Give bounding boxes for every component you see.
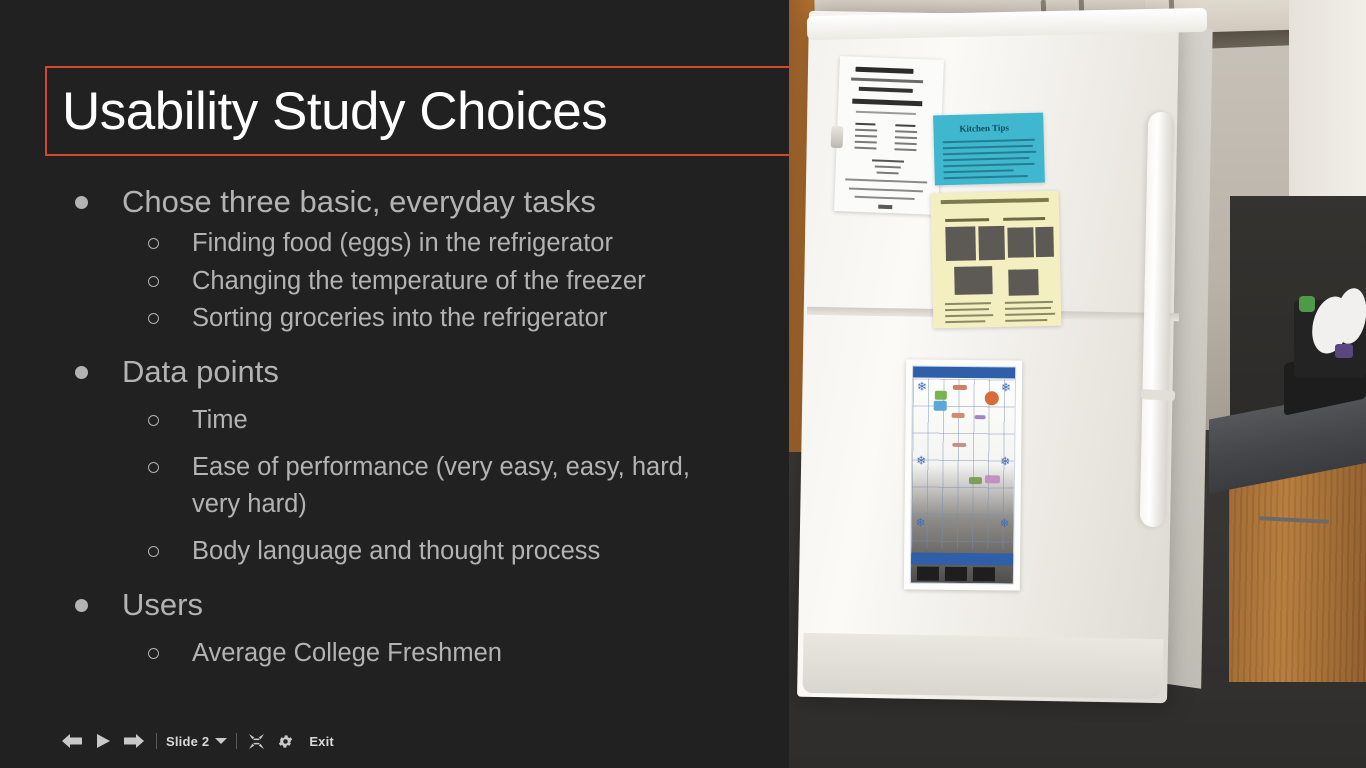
snowflake-icon: ❄ <box>1001 381 1011 393</box>
refrigerator-base <box>803 633 1164 699</box>
hollow-bullet-icon <box>148 415 159 426</box>
list-item: Chose three basic, everyday tasks <box>60 182 780 223</box>
refrigerator-handle-bracket <box>1141 389 1175 401</box>
bullet-level1-label: Chose three basic, everyday tasks <box>122 182 596 223</box>
toolbar-divider <box>236 733 237 749</box>
calendar-note <box>952 413 965 418</box>
calendar-inner: ❄ ❄ ❄ ❄ ❄ ❄ <box>910 365 1016 584</box>
list-item: Time <box>60 402 780 440</box>
calendar-note <box>985 475 1000 483</box>
filled-bullet-icon <box>75 599 88 612</box>
calendar-sticker <box>934 401 947 411</box>
snowflake-icon: ❄ <box>916 455 926 467</box>
hollow-bullet-icon <box>148 546 159 557</box>
calendar-header-bar <box>913 366 1015 378</box>
apartment-cleaning-flyer <box>931 191 1062 329</box>
list-item: Finding food (eggs) in the refrigerator <box>60 225 780 263</box>
next-slide-button[interactable] <box>117 728 151 754</box>
snowflake-icon: ❄ <box>999 517 1009 529</box>
bullet-level2-label: Time <box>192 402 248 440</box>
list-item: Body language and thought process <box>60 533 780 571</box>
slide-title-box: Usability Study Choices <box>45 66 789 156</box>
exit-button-label: Exit <box>309 734 334 749</box>
chevron-down-icon <box>215 738 227 744</box>
bullet-level2-label: Ease of performance (very easy, easy, ha… <box>192 449 722 524</box>
play-presentation-button[interactable] <box>89 728 117 754</box>
slide-selector[interactable]: Slide 2 <box>162 734 231 749</box>
refrigerator-photo: Kitchen Tips <box>789 0 1366 768</box>
list-item: Sorting groceries into the refrigerator <box>60 300 780 338</box>
slide-body-list: Chose three basic, everyday tasks Findin… <box>60 182 780 673</box>
exit-button[interactable]: Exit <box>300 728 340 754</box>
bullet-group: Users Average College Freshmen <box>60 585 780 673</box>
bullet-level2-label: Body language and thought process <box>192 533 600 571</box>
toolbar-divider <box>156 733 157 749</box>
calendar-note <box>975 415 986 419</box>
hollow-bullet-icon <box>148 238 159 249</box>
bullet-level2-label: Changing the temperature of the freezer <box>192 263 646 301</box>
slide-canvas: Usability Study Choices Chose three basi… <box>0 0 789 768</box>
list-item: Data points <box>60 352 780 393</box>
filled-bullet-icon <box>75 366 88 379</box>
presentation-viewer: Usability Study Choices Chose three basi… <box>0 0 1366 768</box>
previous-slide-button[interactable] <box>55 728 89 754</box>
collapse-arrows-icon <box>248 733 265 750</box>
exit-fullscreen-button[interactable] <box>242 728 271 754</box>
calendar-sticker <box>985 391 999 405</box>
green-cup <box>1299 296 1315 312</box>
kitchen-tips-card: Kitchen Tips <box>933 113 1045 186</box>
hollow-bullet-icon <box>148 313 159 324</box>
bullet-level2-label: Average College Freshmen <box>192 635 502 673</box>
january-calendar-poster: ❄ ❄ ❄ ❄ ❄ ❄ <box>904 359 1022 590</box>
list-item: Changing the temperature of the freezer <box>60 263 780 301</box>
calendar-note <box>953 385 967 390</box>
calendar-note <box>969 477 982 484</box>
snowflake-icon: ❄ <box>917 381 927 393</box>
cabinet-wood-grain <box>1229 452 1366 682</box>
calendar-tab <box>945 567 967 581</box>
bullet-level1-label: Users <box>122 585 203 626</box>
calendar-sticker <box>935 391 947 400</box>
calendar-footer-bar <box>911 552 1013 565</box>
cleaning-schedule-flyer <box>834 56 944 215</box>
calendar-tab <box>917 567 939 581</box>
kitchen-tips-title: Kitchen Tips <box>959 122 1009 133</box>
bullet-group: Chose three basic, everyday tasks Findin… <box>60 182 780 338</box>
calendar-tab <box>973 567 995 581</box>
page-title: Usability Study Choices <box>47 85 607 138</box>
snowflake-icon: ❄ <box>1000 455 1010 467</box>
bullet-level2-label: Sorting groceries into the refrigerator <box>192 300 607 338</box>
snowflake-icon: ❄ <box>915 517 925 529</box>
list-item: Average College Freshmen <box>60 635 780 673</box>
list-item: Ease of performance (very easy, easy, ha… <box>60 449 780 524</box>
magnet <box>831 126 844 148</box>
gear-icon <box>277 733 294 750</box>
settings-button[interactable] <box>271 728 300 754</box>
arrow-left-icon <box>61 733 83 749</box>
hollow-bullet-icon <box>148 648 159 659</box>
hollow-bullet-icon <box>148 276 159 287</box>
hollow-bullet-icon <box>148 462 159 473</box>
bullet-level2-label: Finding food (eggs) in the refrigerator <box>192 225 613 263</box>
bullet-level1-label: Data points <box>122 352 279 393</box>
arrow-right-icon <box>123 733 145 749</box>
list-item: Users <box>60 585 780 626</box>
purple-cup <box>1335 344 1353 358</box>
bullet-group: Data points Time Ease of performance (ve… <box>60 352 780 571</box>
calendar-note <box>952 443 966 447</box>
slide-indicator-label: Slide 2 <box>166 734 209 749</box>
play-icon <box>95 733 111 749</box>
presentation-toolbar: Slide 2 <box>55 728 340 754</box>
filled-bullet-icon <box>75 196 88 209</box>
